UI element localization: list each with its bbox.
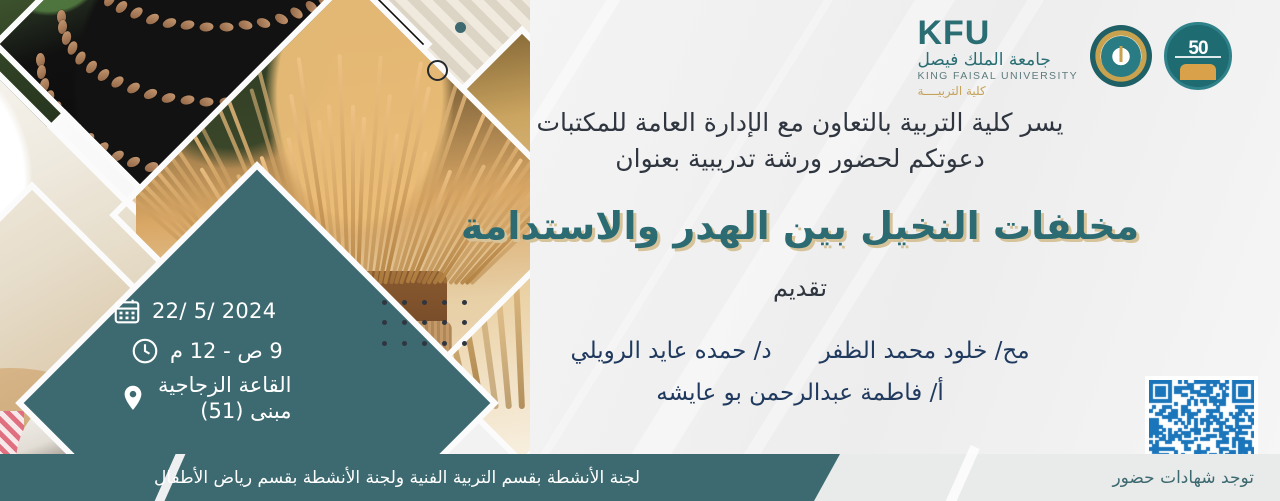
teal-dot-decoration — [455, 22, 466, 33]
event-time-row: 9 ص - 12 م — [130, 336, 283, 366]
presented-by-label: تقديم — [440, 274, 1160, 302]
event-banner: 2024 /5 /22 9 ص - — [0, 0, 1280, 501]
kfu-abbreviation: KFU — [917, 16, 990, 50]
organizers-text: لجنة الأنشطة بقسم التربية الفنية ولجنة ا… — [154, 468, 640, 488]
university-logo-lockup: 50 KFU جامعة الملك فيصل KING FAISAL UNIV… — [917, 16, 1232, 97]
workshop-title: مخلفات النخيل بين الهدر والاستدامة — [440, 204, 1160, 248]
kfu-official-seal — [1090, 25, 1152, 87]
presenter-name-3: أ/ فاطمة عبدالرحمن بو عايشه — [440, 372, 1160, 415]
presenter-name-2: مح/ خلود محمد الظفر — [820, 330, 1030, 373]
kfu-wordmark: KFU جامعة الملك فيصل KING FAISAL UNIVERS… — [917, 16, 1078, 97]
venue-line-2: مبنى (51) — [158, 398, 292, 424]
presenters-row-primary: مح/ خلود محمد الظفر د/ حمده عايد الرويلي — [440, 330, 1160, 373]
outlined-circle-decoration — [427, 60, 448, 81]
presenter-name-1: د/ حمده عايد الرويلي — [570, 330, 771, 373]
event-date-row: 2024 /5 /22 — [112, 296, 276, 326]
organizers-strip: لجنة الأنشطة بقسم التربية الفنية ولجنة ا… — [0, 454, 840, 501]
invitation-lead-line-1: يسر كلية التربية بالتعاون مع الإدارة الع… — [440, 105, 1160, 141]
event-time-text: 9 ص - 12 م — [170, 338, 283, 364]
certificates-text: توجد شهادات حضور — [1112, 468, 1254, 488]
certificates-strip: توجد شهادات حضور — [806, 454, 1280, 501]
kfu-name-english: KING FAISAL UNIVERSITY — [917, 71, 1078, 82]
calendar-icon — [112, 296, 142, 326]
kfu-name-arabic: جامعة الملك فيصل — [917, 52, 1050, 69]
event-venue-row: القاعة الزجاجية مبنى (51) — [118, 372, 292, 425]
college-name-arabic: كلية التربيــــة — [917, 85, 985, 97]
fifty-years-badge: 50 — [1164, 22, 1232, 90]
presenters-list: مح/ خلود محمد الظفر د/ حمده عايد الرويلي… — [440, 330, 1160, 415]
event-date-text: 2024 /5 /22 — [152, 298, 276, 324]
location-pin-icon — [118, 383, 148, 413]
invitation-lead-line-2: دعوتكم لحضور ورشة تدريبية بعنوان — [440, 141, 1160, 177]
main-content: يسر كلية التربية بالتعاون مع الإدارة الع… — [440, 105, 1160, 415]
clock-icon — [130, 336, 160, 366]
venue-line-1: القاعة الزجاجية — [158, 373, 292, 397]
event-venue-text: القاعة الزجاجية مبنى (51) — [158, 372, 292, 425]
